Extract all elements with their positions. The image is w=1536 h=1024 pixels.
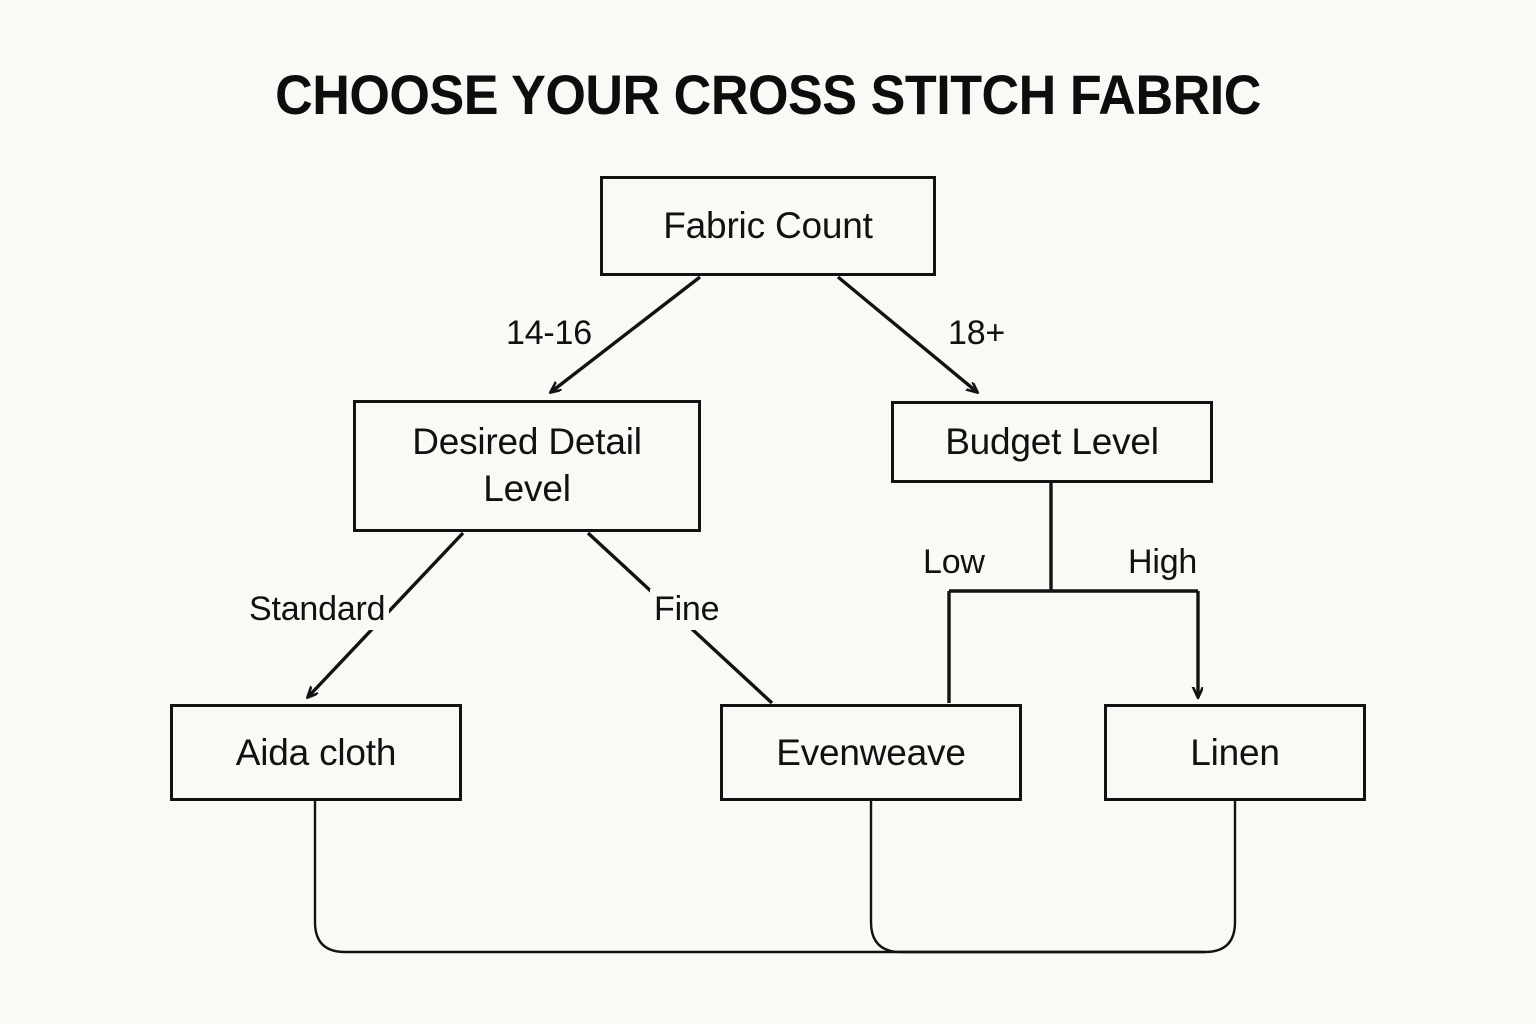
diagram-canvas: CHOOSE YOUR CROSS STITCH FABRIC (0, 0, 1536, 1024)
edge-evenweave-return (871, 801, 1205, 952)
node-fabric-count[interactable]: Fabric Count (600, 176, 936, 276)
node-aida-cloth-label: Aida cloth (236, 731, 397, 775)
node-desired-detail-level-label-line2: Level (483, 466, 570, 513)
node-budget-level-label: Budget Level (945, 420, 1159, 464)
edge-label-count-low: 14-16 (502, 313, 596, 354)
node-fabric-count-label: Fabric Count (663, 204, 872, 248)
node-linen-label: Linen (1190, 731, 1280, 775)
node-desired-detail-level-label-line1: Desired Detail (412, 419, 642, 466)
edge-label-budget-high: High (1124, 542, 1201, 583)
node-budget-level[interactable]: Budget Level (891, 401, 1213, 483)
edge-aida-return (315, 801, 1235, 952)
edge-label-detail-fine: Fine (650, 589, 723, 630)
node-aida-cloth[interactable]: Aida cloth (170, 704, 462, 801)
node-evenweave[interactable]: Evenweave (720, 704, 1022, 801)
node-desired-detail-level[interactable]: Desired Detail Level (353, 400, 701, 532)
edge-label-budget-low: Low (919, 542, 989, 583)
node-linen[interactable]: Linen (1104, 704, 1366, 801)
edge-label-detail-standard: Standard (245, 589, 389, 630)
edge-layer (0, 0, 1536, 1024)
edge-label-count-high: 18+ (944, 313, 1009, 354)
node-evenweave-label: Evenweave (776, 731, 966, 775)
